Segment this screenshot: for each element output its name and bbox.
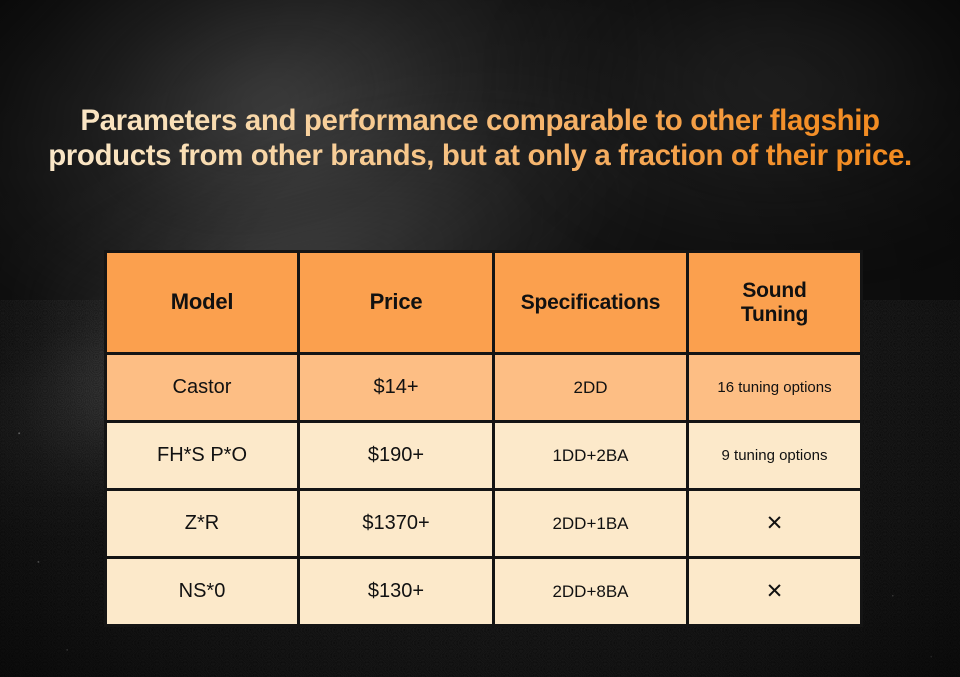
cell-model: NS*0 xyxy=(106,558,299,626)
cell-price: $130+ xyxy=(299,558,494,626)
cell-price: $14+ xyxy=(299,354,494,422)
column-header-sound-tuning-line-1: Sound xyxy=(742,279,806,302)
column-header-sound-tuning-line-2: Tuning xyxy=(741,303,808,326)
cell-specifications: 1DD+2BA xyxy=(494,422,688,490)
cell-sound-tuning: 9 tuning options xyxy=(688,422,862,490)
cell-sound-tuning-cross-icon: ✕ xyxy=(688,490,862,558)
table-row: Castor $14+ 2DD 16 tuning options xyxy=(106,354,862,422)
headline-line-1: Parameters and performance comparable to… xyxy=(0,104,960,139)
table-header: Model Price Specifications Sound Tuning xyxy=(106,252,862,354)
cell-specifications: 2DD+8BA xyxy=(494,558,688,626)
table-body: Castor $14+ 2DD 16 tuning options FH*S P… xyxy=(106,354,862,626)
table-row: FH*S P*O $190+ 1DD+2BA 9 tuning options xyxy=(106,422,862,490)
table-row: NS*0 $130+ 2DD+8BA ✕ xyxy=(106,558,862,626)
cell-model: Castor xyxy=(106,354,299,422)
cell-sound-tuning: 16 tuning options xyxy=(688,354,862,422)
cell-specifications: 2DD+1BA xyxy=(494,490,688,558)
cell-specifications: 2DD xyxy=(494,354,688,422)
column-header-sound-tuning: Sound Tuning xyxy=(688,252,862,354)
cell-model: FH*S P*O xyxy=(106,422,299,490)
column-header-model: Model xyxy=(106,252,299,354)
cell-sound-tuning-cross-icon: ✕ xyxy=(688,558,862,626)
headline-line-2: products from other brands, but at only … xyxy=(0,139,960,174)
table-header-row: Model Price Specifications Sound Tuning xyxy=(106,252,862,354)
cell-price: $190+ xyxy=(299,422,494,490)
cell-price: $1370+ xyxy=(299,490,494,558)
cell-model: Z*R xyxy=(106,490,299,558)
column-header-specifications: Specifications xyxy=(494,252,688,354)
column-header-price: Price xyxy=(299,252,494,354)
comparison-table: Model Price Specifications Sound Tuning … xyxy=(104,250,863,627)
table-row: Z*R $1370+ 2DD+1BA ✕ xyxy=(106,490,862,558)
page-headline: Parameters and performance comparable to… xyxy=(0,104,960,174)
